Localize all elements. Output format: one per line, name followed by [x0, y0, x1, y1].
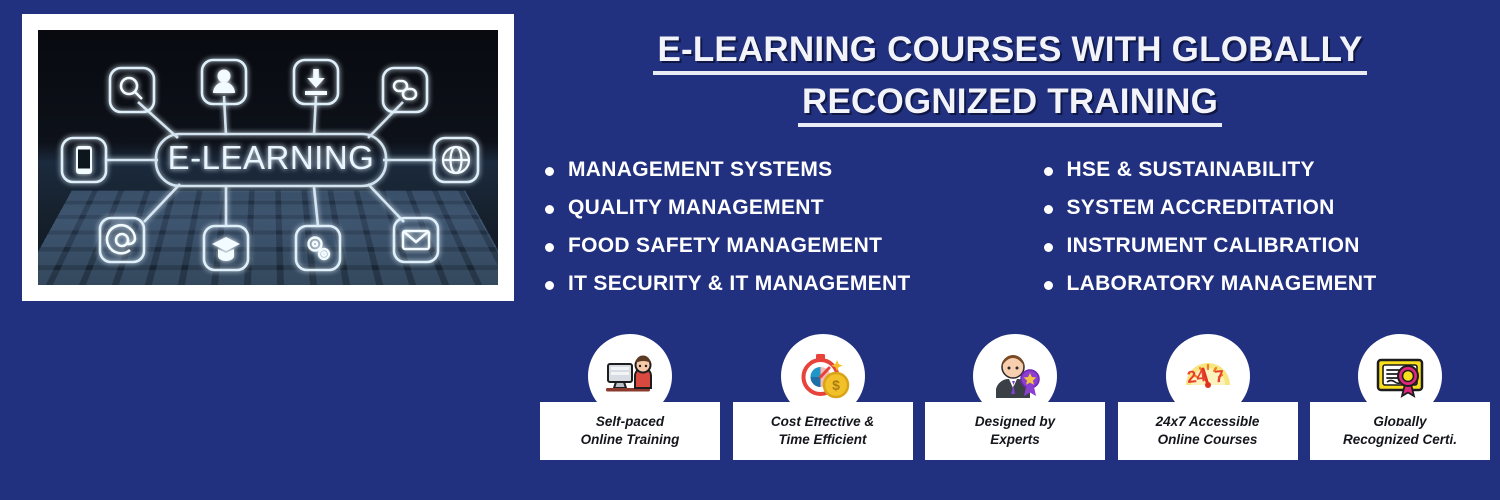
feature-icon-circle	[973, 334, 1057, 418]
list-item-label: SYSTEM ACCREDITATION	[1067, 196, 1335, 219]
certificate-ribbon-icon	[1372, 348, 1428, 404]
bullet-dot-icon	[545, 281, 554, 290]
feature-badge-24x7[interactable]: 24 7 24x7 Accessible Online Courses	[1118, 334, 1298, 460]
bullet-dot-icon	[1044, 167, 1053, 176]
list-item[interactable]: HSE & SUSTAINABILITY	[1044, 158, 1491, 181]
heading-line-1: E-LEARNING COURSES WITH GLOBALLY	[653, 30, 1366, 75]
feature-icon-circle	[1358, 334, 1442, 418]
list-item[interactable]: LABORATORY MANAGEMENT	[1044, 272, 1491, 295]
list-item-label: HSE & SUSTAINABILITY	[1067, 158, 1315, 181]
bullet-dot-icon	[1044, 205, 1053, 214]
feature-label-line2: Experts	[931, 431, 1099, 449]
feature-badges: Self-paced Online Training $	[540, 334, 1490, 484]
feature-label-line2: Recognized Certi.	[1316, 431, 1484, 449]
svg-text:24: 24	[1186, 366, 1207, 387]
feature-icon-circle: $	[781, 334, 865, 418]
elearning-promo-banner: E-LEARNING	[0, 0, 1500, 500]
list-item-label: LABORATORY MANAGEMENT	[1067, 272, 1377, 295]
bullet-dot-icon	[545, 243, 554, 252]
list-item[interactable]: SYSTEM ACCREDITATION	[1044, 196, 1491, 219]
person-at-computer-icon	[602, 348, 658, 404]
list-item[interactable]: FOOD SAFETY MANAGEMENT	[545, 234, 992, 257]
expert-businessman-icon	[987, 348, 1043, 404]
heading-line-2: RECOGNIZED TRAINING	[798, 82, 1222, 127]
list-item[interactable]: IT SECURITY & IT MANAGEMENT	[545, 272, 992, 295]
feature-icon-circle	[588, 334, 672, 418]
bullet-dot-icon	[1044, 281, 1053, 290]
hero-image-panel: E-LEARNING	[22, 14, 514, 301]
banner-heading: E-LEARNING COURSES WITH GLOBALLY RECOGNI…	[530, 30, 1490, 127]
hero-image: E-LEARNING	[38, 30, 498, 285]
stopwatch-coin-icon: $	[795, 348, 851, 404]
list-item[interactable]: INSTRUMENT CALIBRATION	[1044, 234, 1491, 257]
feature-icon-circle: 24 7	[1166, 334, 1250, 418]
list-item-label: MANAGEMENT SYSTEMS	[568, 158, 832, 181]
course-list-right: HSE & SUSTAINABILITY SYSTEM ACCREDITATIO…	[1012, 158, 1491, 310]
feature-badge-cost-effective[interactable]: $ Cost Effective & Time Efficient	[733, 334, 913, 460]
bullet-dot-icon	[545, 205, 554, 214]
list-item[interactable]: MANAGEMENT SYSTEMS	[545, 158, 992, 181]
course-category-lists: MANAGEMENT SYSTEMS QUALITY MANAGEMENT FO…	[545, 158, 1490, 310]
svg-text:$: $	[832, 377, 840, 393]
bullet-dot-icon	[1044, 243, 1053, 252]
24-7-gauge-icon: 24 7	[1179, 347, 1237, 405]
bullet-dot-icon	[545, 167, 554, 176]
network-diagram-overlay: E-LEARNING	[38, 30, 498, 285]
svg-text:7: 7	[1213, 367, 1224, 387]
feature-label-line2: Time Efficient	[739, 431, 907, 449]
list-item-label: QUALITY MANAGEMENT	[568, 196, 824, 219]
svg-text:E-LEARNING: E-LEARNING	[168, 139, 375, 176]
feature-label-line2: Online Courses	[1124, 431, 1292, 449]
list-item[interactable]: QUALITY MANAGEMENT	[545, 196, 992, 219]
course-list-left: MANAGEMENT SYSTEMS QUALITY MANAGEMENT FO…	[545, 158, 992, 310]
feature-label-line2: Online Training	[546, 431, 714, 449]
list-item-label: IT SECURITY & IT MANAGEMENT	[568, 272, 911, 295]
feature-badge-self-paced[interactable]: Self-paced Online Training	[540, 334, 720, 460]
list-item-label: FOOD SAFETY MANAGEMENT	[568, 234, 882, 257]
list-item-label: INSTRUMENT CALIBRATION	[1067, 234, 1360, 257]
feature-badge-certificate[interactable]: Globally Recognized Certi.	[1310, 334, 1490, 460]
feature-badge-designed-by-experts[interactable]: Designed by Experts	[925, 334, 1105, 460]
